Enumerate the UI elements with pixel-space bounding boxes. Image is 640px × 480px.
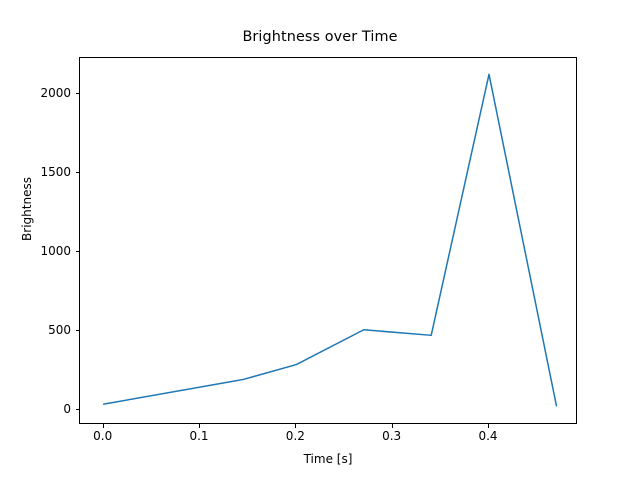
y-axis-tick-label: 1500 (40, 165, 71, 179)
y-axis-label: Brightness (20, 109, 34, 309)
x-axis-tick-label: 0.0 (93, 429, 112, 443)
x-axis-tick-label: 0.1 (189, 429, 208, 443)
chart-title: Brightness over Time (0, 29, 640, 45)
y-axis-tick-labels: 0500100015002000 (0, 0, 71, 480)
y-axis-tick-label: 1000 (40, 244, 71, 258)
line-plot (80, 58, 578, 425)
x-axis-tick-label: 0.2 (286, 429, 305, 443)
y-axis-tick-label: 2000 (40, 86, 71, 100)
y-axis-tick-label: 0 (63, 402, 71, 416)
figure-canvas: Brightness over Time 0500100015002000 0.… (0, 0, 640, 480)
x-axis-tick-label: 0.3 (382, 429, 401, 443)
x-axis-label: Time [s] (79, 452, 577, 466)
plot-axes (79, 57, 577, 424)
x-axis-tick-label: 0.4 (478, 429, 497, 443)
data-line-series-brightness (104, 74, 557, 405)
y-axis-tick-label: 500 (48, 323, 71, 337)
